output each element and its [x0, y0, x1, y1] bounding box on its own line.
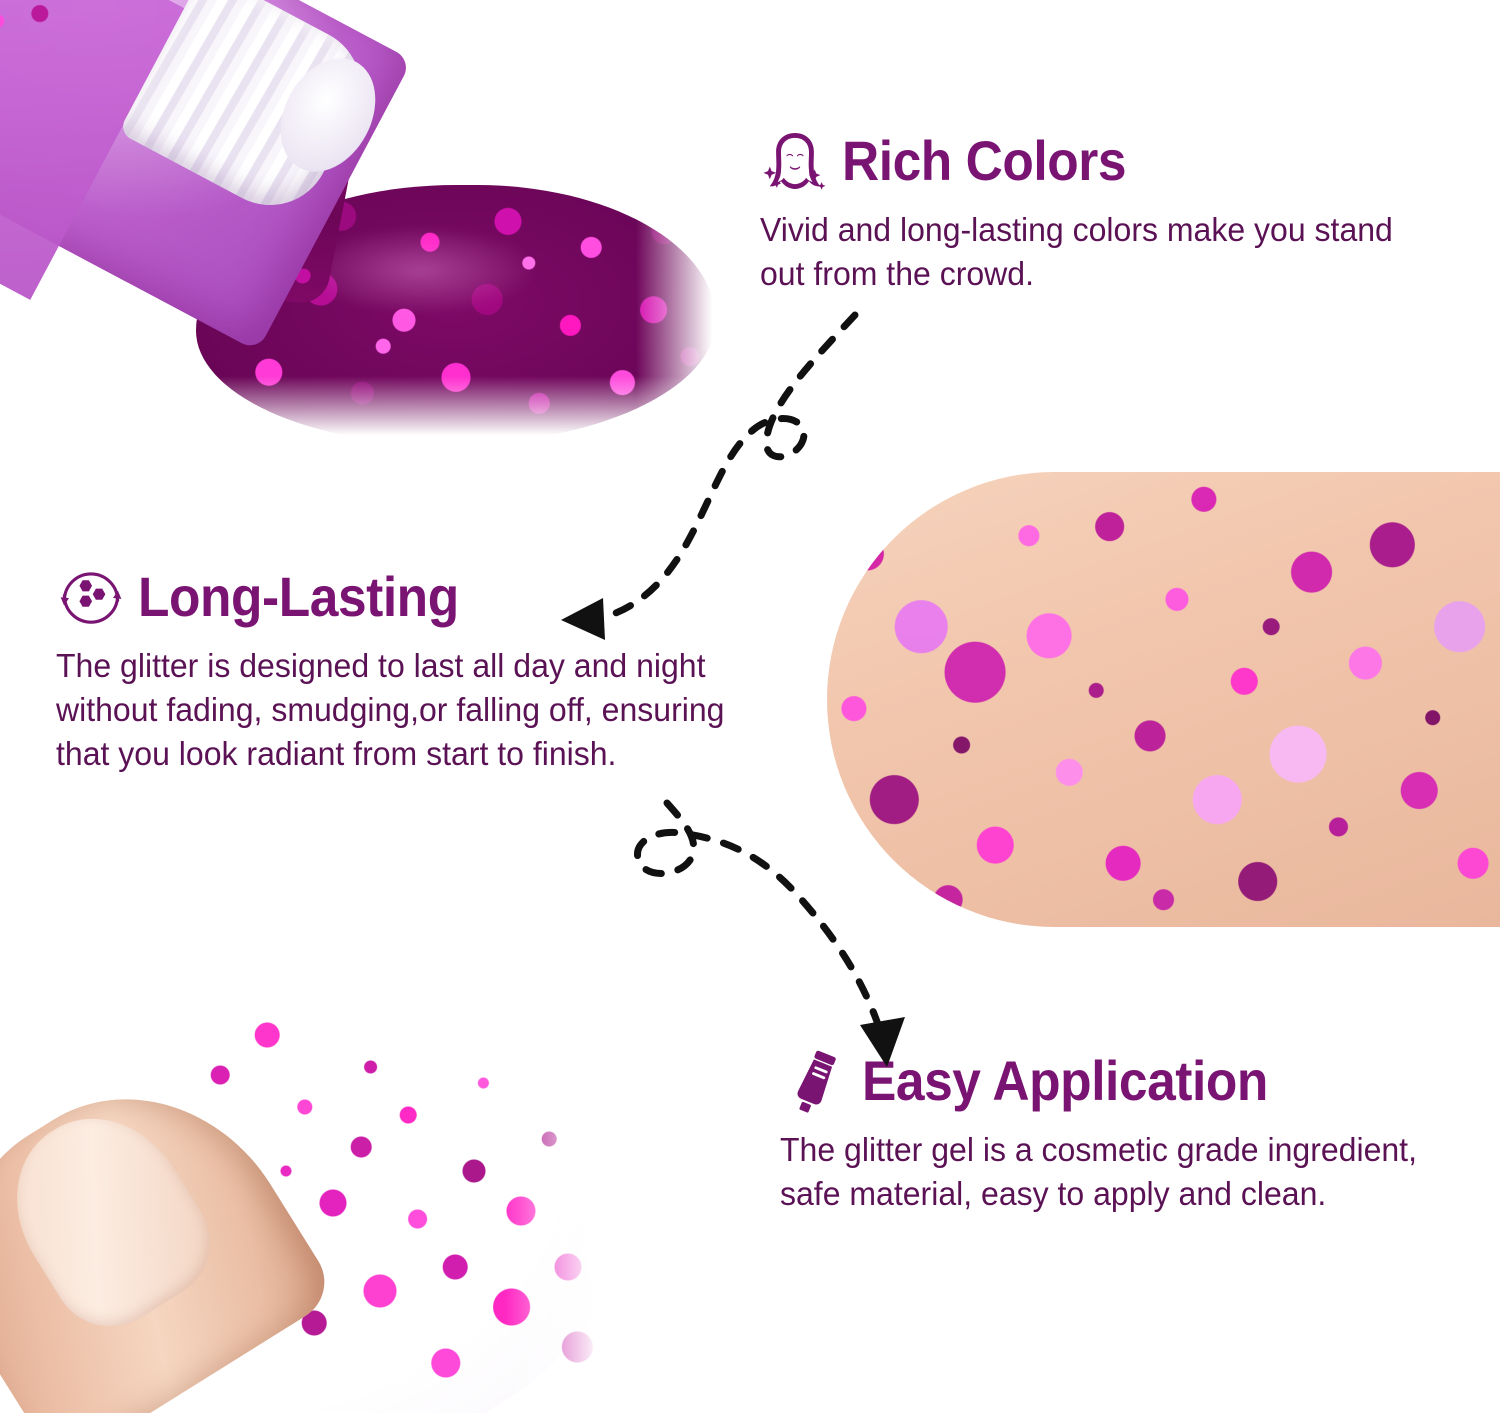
feature-rich-colors: Rich Colors Vivid and long-lasting color… [760, 126, 1460, 296]
feature-description: The glitter gel is a cosmetic grade ingr… [780, 1128, 1449, 1216]
photo-finger-swatch [0, 965, 625, 1413]
feature-title: Long-Lasting [138, 568, 459, 625]
arrow-dashed-path [601, 315, 855, 618]
feature-title: Rich Colors [842, 132, 1126, 189]
feature-description: Vivid and long-lasting colors make you s… [760, 208, 1439, 296]
feature-description: The glitter is designed to last all day … [56, 644, 725, 777]
hexagons-refresh-cycle-icon [56, 562, 126, 632]
feature-heading-row: Rich Colors [760, 126, 1460, 196]
arrowhead [561, 598, 605, 640]
arrow-rich-to-long [555, 290, 875, 650]
arrowhead [860, 1017, 905, 1067]
woman-face-sparkle-icon [760, 126, 830, 196]
arrow-dashed-path [637, 803, 881, 1033]
arrow-long-to-easy [605, 795, 945, 1105]
